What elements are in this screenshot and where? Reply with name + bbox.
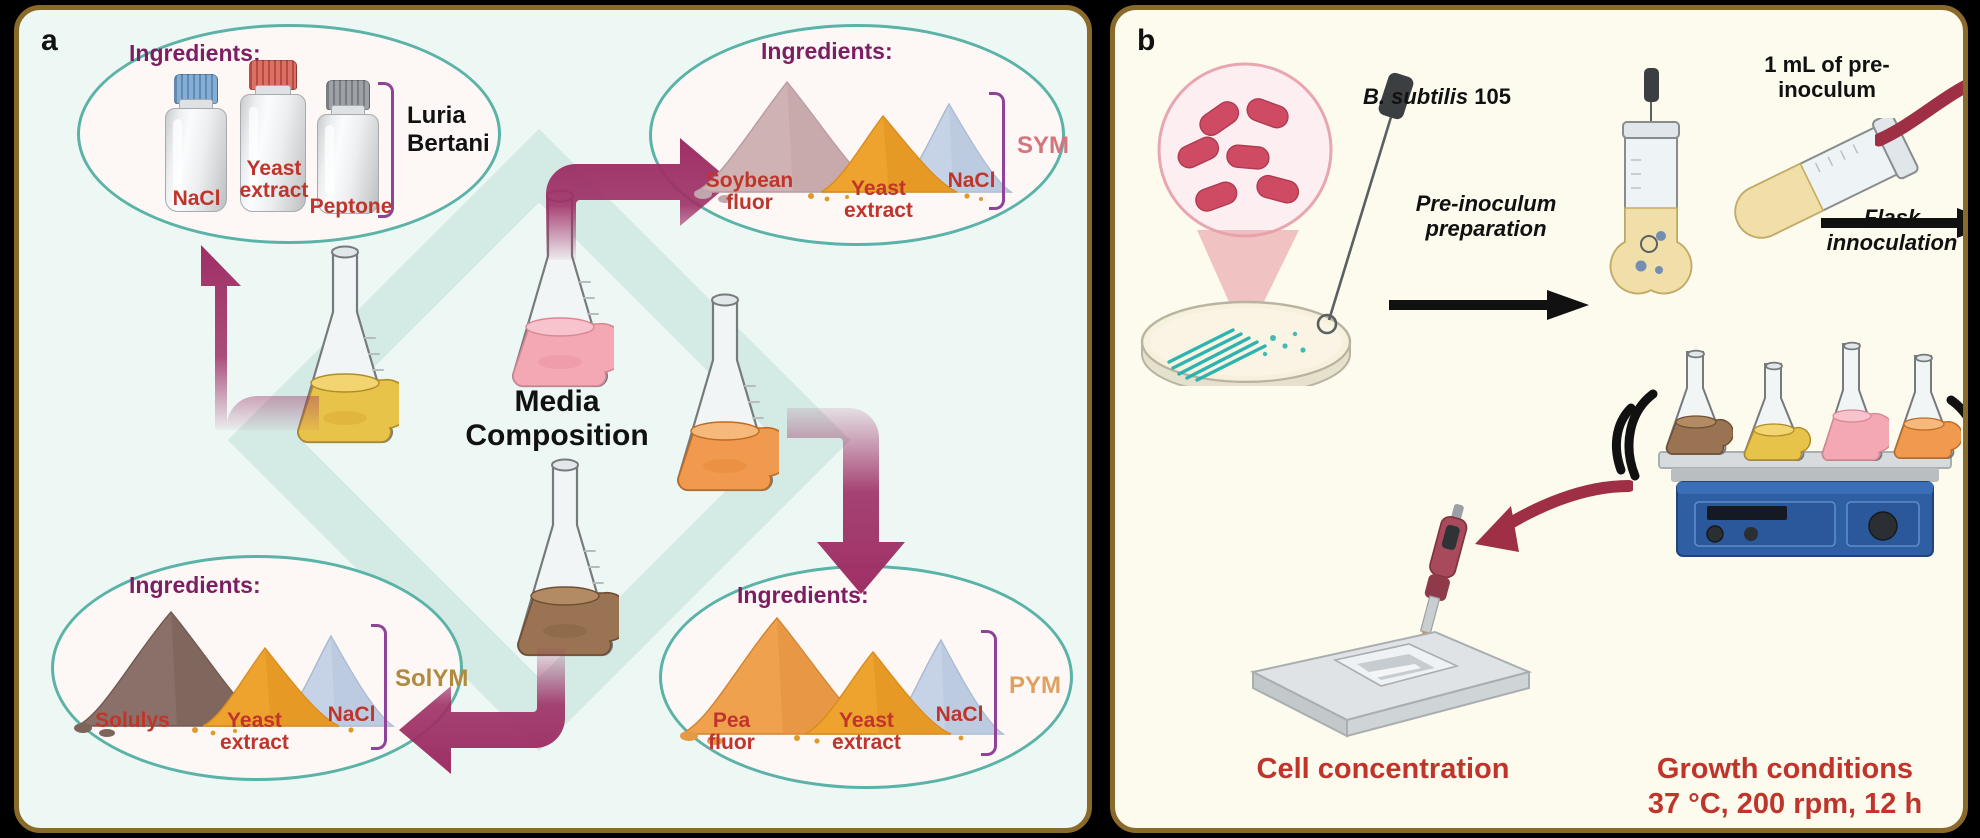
ingredient-label-yeast-extract-sym: Yeast extract <box>821 178 936 222</box>
flask-pym <box>671 290 779 498</box>
flask-luria-bertani <box>291 242 399 450</box>
strain-genus-species: B. subtilis <box>1363 84 1468 109</box>
result-label-growth-conditions: Growth conditions 37 °C, 200 rpm, 12 h <box>1585 752 1968 822</box>
ingredient-label-pea-fluor: Pea fluor <box>679 710 784 754</box>
ingredient-label-yeast-extract-pym: Yeast extract <box>809 710 924 754</box>
media-tag-luria-bertani: Luria Bertani <box>407 102 490 157</box>
ingredients-label-pym: Ingredients: <box>737 582 869 609</box>
flask-solym <box>511 455 619 663</box>
result-label-cell-concentration: Cell concentration <box>1191 752 1575 787</box>
ingredients-label-sym: Ingredients: <box>761 38 893 65</box>
shaker-flask-3 <box>1815 340 1889 466</box>
ingredients-label-solym: Ingredients: <box>129 572 261 599</box>
arrow-spacer <box>1443 278 1631 312</box>
media-composition-title: Media Composition <box>457 385 657 452</box>
shaker-flask-2 <box>1737 360 1811 466</box>
bottle-gloss-nacl <box>173 119 181 192</box>
strain-label: B. subtilis 105 <box>1363 84 1603 109</box>
shaker-flask-1 <box>1659 348 1733 460</box>
panel-a: a <box>14 5 1092 833</box>
bracket-solym <box>371 624 387 750</box>
ingredient-label-soybean-fluor: Soybean fluor <box>687 170 812 214</box>
pre-inoculum-tube <box>1603 68 1699 304</box>
bracket-luria-bertani <box>378 82 394 218</box>
strain-number: 105 <box>1468 84 1511 109</box>
panel-b: b <box>1110 5 1968 833</box>
media-tag-sym: SYM <box>1017 132 1069 160</box>
counting-chamber-slide <box>1239 610 1539 750</box>
flask-sym <box>506 186 614 394</box>
ingredients-label-luria-bertani: Ingredients: <box>129 40 261 67</box>
bracket-pym <box>981 630 997 756</box>
transfer-note-label: 1 mL of pre- inoculum <box>1715 52 1939 103</box>
shake-motion-right <box>1937 392 1968 498</box>
ingredient-label-solulys: Solulys <box>75 710 190 732</box>
panel-a-letter: a <box>41 24 58 58</box>
shake-motion-left <box>1609 386 1669 486</box>
media-tag-pym: PYM <box>1009 672 1061 700</box>
step-label-pre-inoculum: Pre-inoculum preparation <box>1383 192 1589 241</box>
panel-b-letter: b <box>1137 24 1155 58</box>
ingredient-label-yeast-extract-solym: Yeast extract <box>197 710 312 754</box>
figure-root: a <box>0 0 1980 838</box>
media-tag-solym: SolYM <box>395 665 468 693</box>
bracket-sym <box>989 92 1005 210</box>
